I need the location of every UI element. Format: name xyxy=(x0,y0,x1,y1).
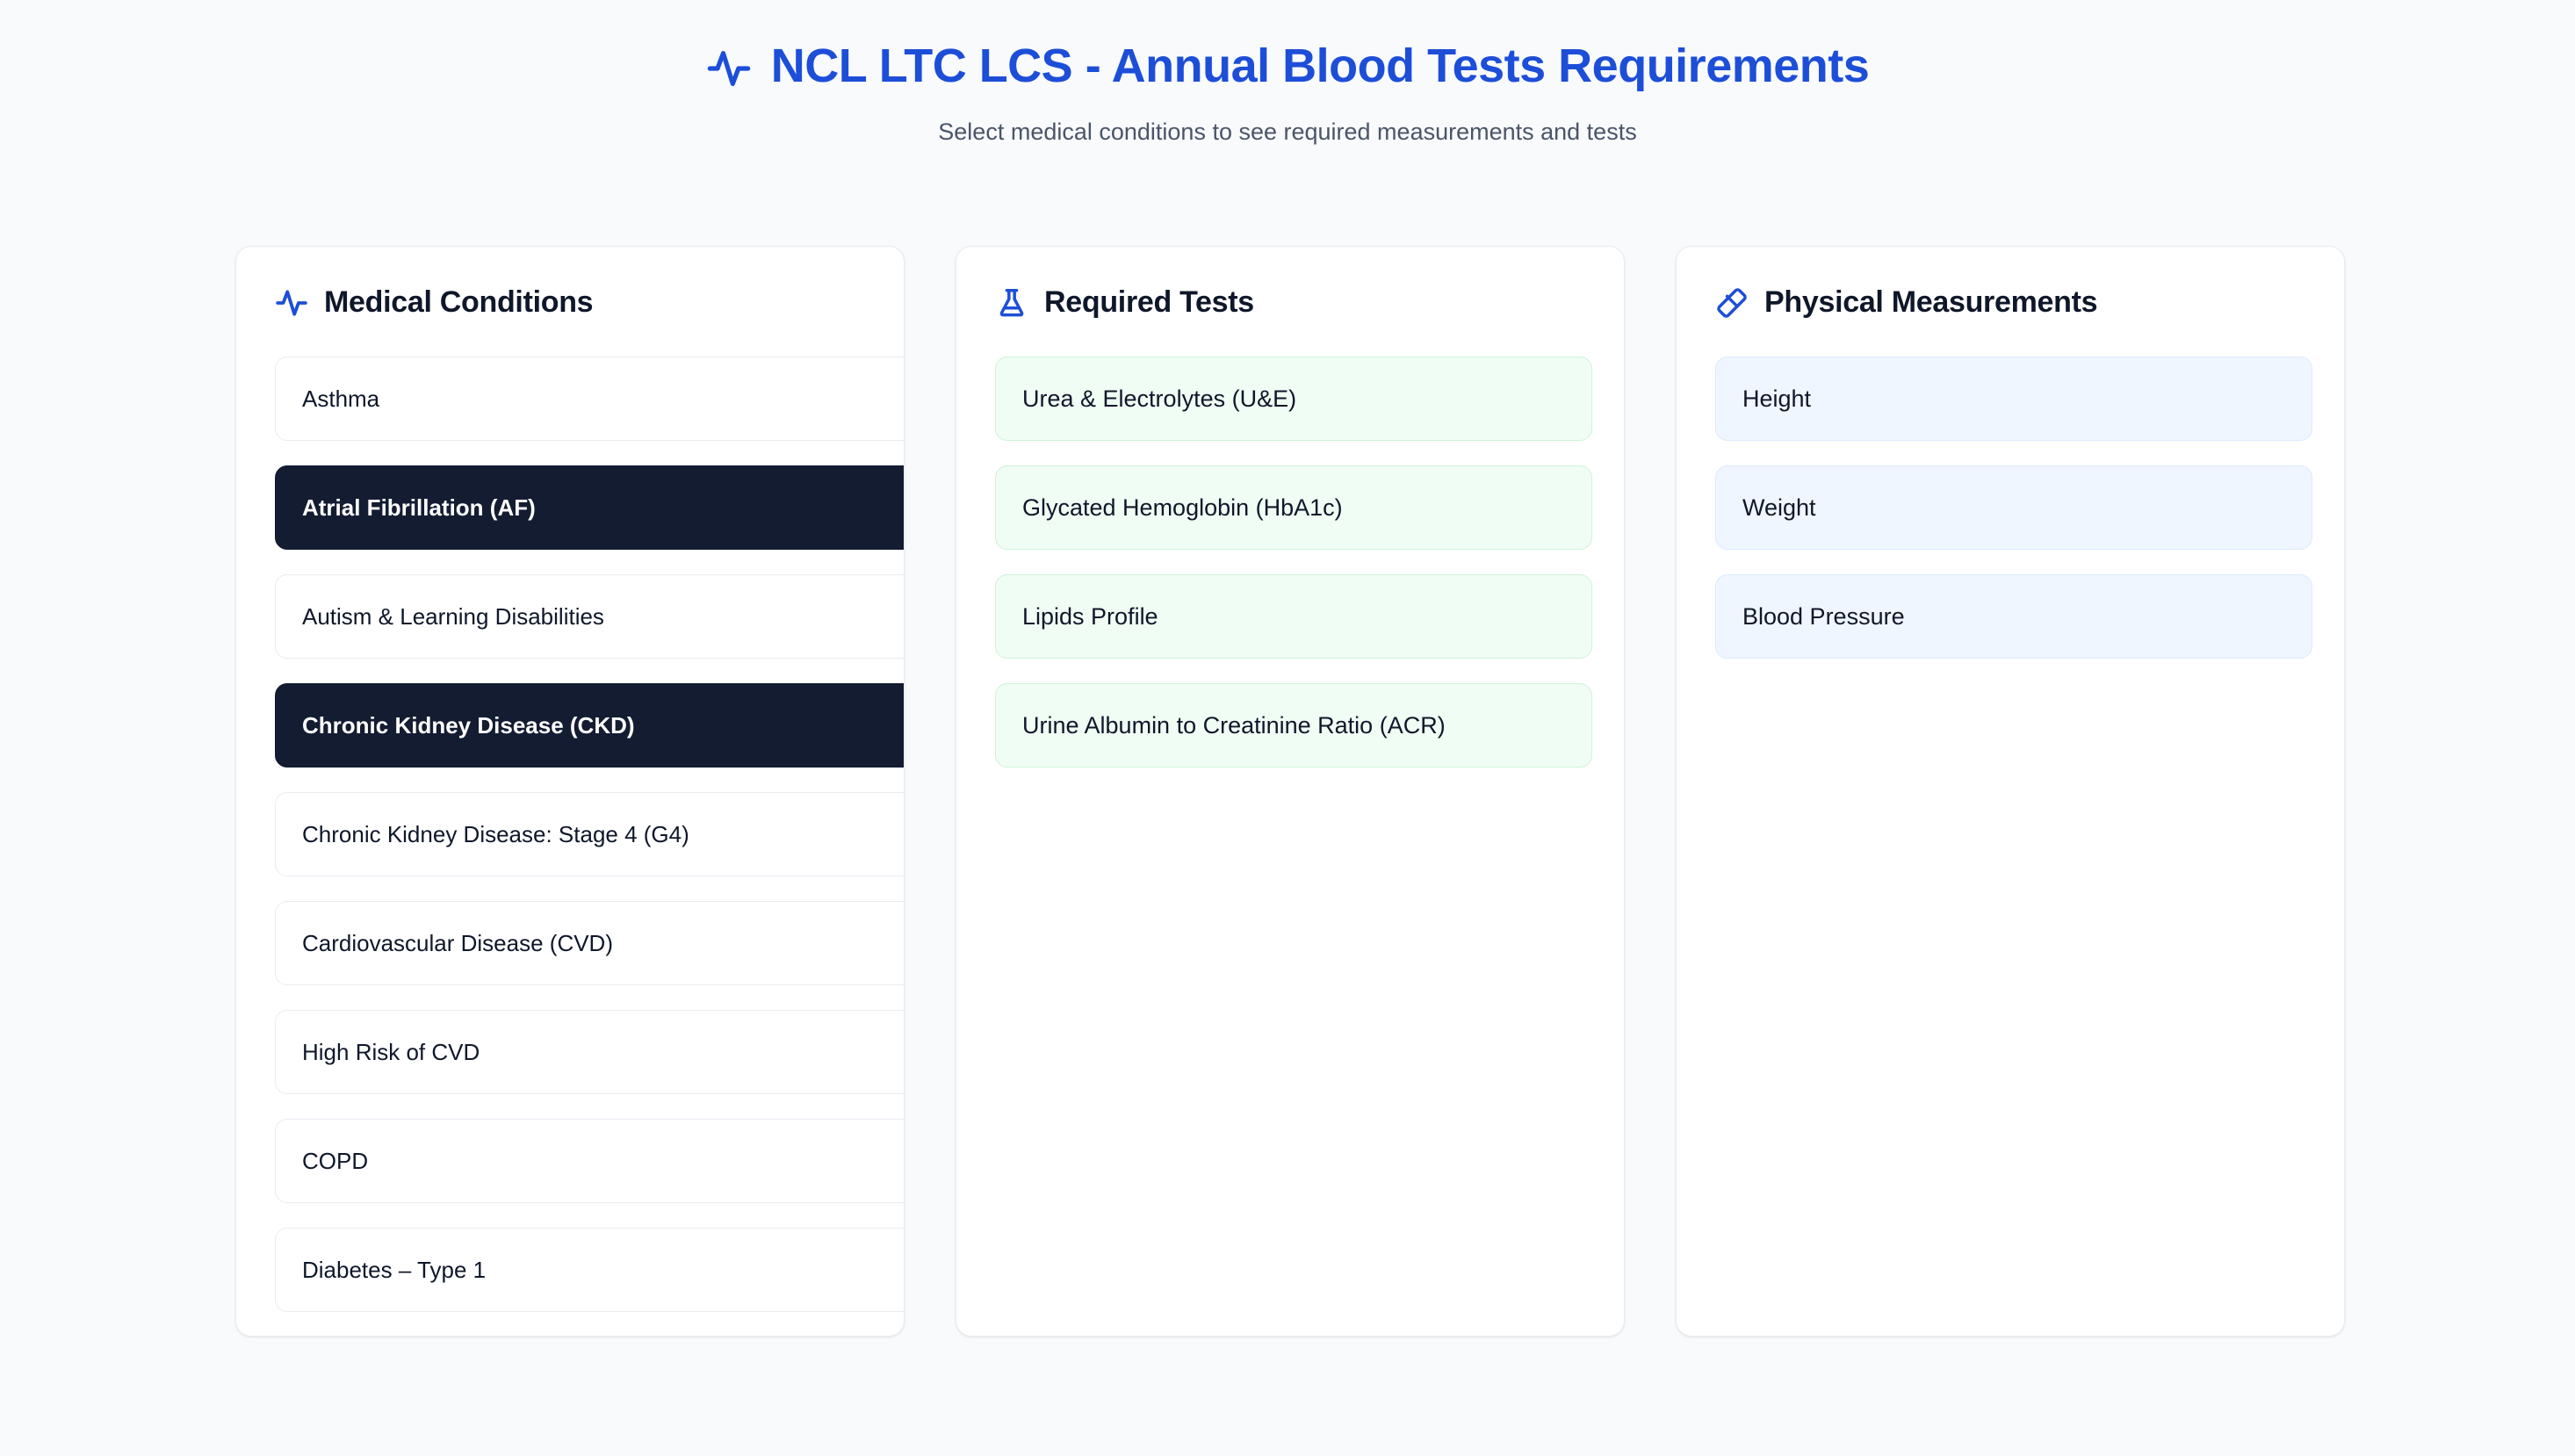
condition-label: Chronic Kidney Disease (CKD) xyxy=(302,712,635,739)
condition-label: Autism & Learning Disabilities xyxy=(302,603,604,631)
medical-conditions-title: Medical Conditions xyxy=(324,285,593,320)
physical-measurements-header: Physical Measurements xyxy=(1715,285,2312,320)
required-tests-panel: Required Tests Urea & Electrolytes (U&E)… xyxy=(956,246,1625,1337)
test-label: Urea & Electrolytes (U&E) xyxy=(1022,386,1296,413)
condition-item[interactable]: Asthma xyxy=(275,357,905,441)
condition-label: COPD xyxy=(302,1148,368,1175)
condition-label: Atrial Fibrillation (AF) xyxy=(302,494,536,522)
measurement-label: Weight xyxy=(1742,494,1816,522)
medical-conditions-header: Medical Conditions xyxy=(275,285,872,320)
test-item: Lipids Profile xyxy=(995,574,1592,659)
page-title-row: NCL LTC LCS - Annual Blood Tests Require… xyxy=(0,40,2575,92)
flask-icon xyxy=(995,286,1028,320)
condition-item[interactable]: Autism & Learning Disabilities xyxy=(275,574,905,659)
physical-measurements-title: Physical Measurements xyxy=(1764,285,2097,320)
page-subtitle: Select medical conditions to see require… xyxy=(0,119,2575,146)
condition-item[interactable]: Diabetes – Type 1 xyxy=(275,1228,905,1312)
condition-item[interactable]: COPD xyxy=(275,1119,905,1203)
measurement-label: Blood Pressure xyxy=(1742,603,1905,631)
physical-measurements-list: Height Weight Blood Pressure xyxy=(1715,357,2312,659)
required-tests-title: Required Tests xyxy=(1044,285,1254,320)
test-label: Urine Albumin to Creatinine Ratio (ACR) xyxy=(1022,712,1446,739)
page-title: NCL LTC LCS - Annual Blood Tests Require… xyxy=(771,40,1870,92)
test-item: Urea & Electrolytes (U&E) xyxy=(995,357,1592,441)
test-label: Lipids Profile xyxy=(1022,603,1158,631)
physical-measurements-panel: Physical Measurements Height Weight Bloo… xyxy=(1676,246,2345,1337)
condition-item[interactable]: Cardiovascular Disease (CVD) xyxy=(275,901,905,985)
medical-conditions-panel: Medical Conditions Asthma Atrial Fibrill… xyxy=(235,246,905,1337)
test-item: Urine Albumin to Creatinine Ratio (ACR) xyxy=(995,683,1592,768)
measurement-label: Height xyxy=(1742,386,1811,413)
condition-item[interactable]: Atrial Fibrillation (AF) xyxy=(275,465,905,550)
condition-item[interactable]: Chronic Kidney Disease (CKD) xyxy=(275,683,905,768)
condition-label: Cardiovascular Disease (CVD) xyxy=(302,930,613,957)
app-root: NCL LTC LCS - Annual Blood Tests Require… xyxy=(0,0,2575,1456)
activity-pulse-icon xyxy=(706,46,752,91)
panels-container: Medical Conditions Asthma Atrial Fibrill… xyxy=(235,246,2345,1337)
required-tests-header: Required Tests xyxy=(995,285,1592,320)
medical-conditions-list: Asthma Atrial Fibrillation (AF) Autism &… xyxy=(275,357,872,1312)
condition-item[interactable]: High Risk of CVD xyxy=(275,1010,905,1094)
measurement-item: Weight xyxy=(1715,465,2312,550)
test-label: Glycated Hemoglobin (HbA1c) xyxy=(1022,494,1343,522)
condition-label: Chronic Kidney Disease: Stage 4 (G4) xyxy=(302,821,689,848)
condition-label: Asthma xyxy=(302,386,379,413)
measurement-item: Blood Pressure xyxy=(1715,574,2312,659)
ruler-icon xyxy=(1715,286,1749,320)
test-item: Glycated Hemoglobin (HbA1c) xyxy=(995,465,1592,550)
condition-label: Diabetes – Type 1 xyxy=(302,1257,486,1284)
page-header: NCL LTC LCS - Annual Blood Tests Require… xyxy=(0,0,2575,146)
condition-label: High Risk of CVD xyxy=(302,1039,480,1066)
required-tests-list: Urea & Electrolytes (U&E) Glycated Hemog… xyxy=(995,357,1592,768)
activity-pulse-icon xyxy=(275,286,308,320)
condition-item[interactable]: Chronic Kidney Disease: Stage 4 (G4) xyxy=(275,792,905,876)
measurement-item: Height xyxy=(1715,357,2312,441)
